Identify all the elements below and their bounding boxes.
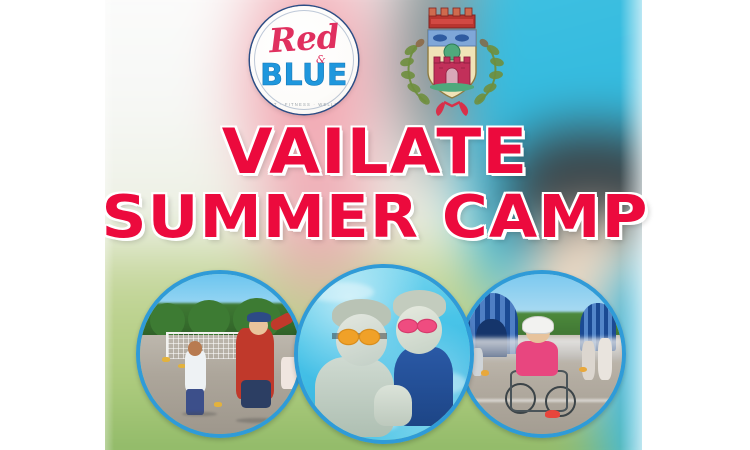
photo-circle-sports [136,270,304,438]
sports-cone [214,402,222,407]
sports-cone [162,357,170,362]
crest-ribbon [436,102,468,116]
cycling-red-cone [545,410,559,418]
cycling-spectator [598,338,612,380]
summer-camp-poster: Red & BLUE SPORT · FITNESS · WELLNESS [0,0,750,450]
photo-cycling-content [462,274,622,434]
red-and-blue-logo: Red & BLUE SPORT · FITNESS · WELLNESS [250,6,358,114]
crest-crown [429,8,475,28]
photo-sports-content [140,274,300,434]
sports-child-cap [247,312,271,322]
sports-shadow [236,418,278,423]
swim-goggles-orange-right [360,330,379,344]
bicycle-frame [510,370,568,412]
sports-child-head [188,341,202,355]
photo-circle-swimming [294,264,474,444]
cycling-spectator [582,341,595,379]
sports-child-legs [186,389,204,415]
photo-swimming-content [298,268,470,440]
swim-child-hand [374,385,412,426]
swim-goggles-pink-right [418,320,435,332]
cycling-child-jersey [516,341,558,376]
vailate-coat-of-arms [396,2,508,124]
coat-of-arms-icon [396,2,508,124]
cycling-child-helmet [523,317,553,333]
photo-circle-cycling [458,270,626,438]
swim-goggles-orange-left [339,330,358,344]
logo-word-blue: BLUE [250,61,358,91]
cycling-marker-cone [481,370,489,376]
photo-circle-group [0,264,750,444]
logo-tagline: SPORT · FITNESS · WELLNESS [250,102,358,107]
sports-child-white-shirt [185,351,206,393]
swim-goggles-pink-left [399,320,416,332]
sports-child-shorts [241,380,271,409]
